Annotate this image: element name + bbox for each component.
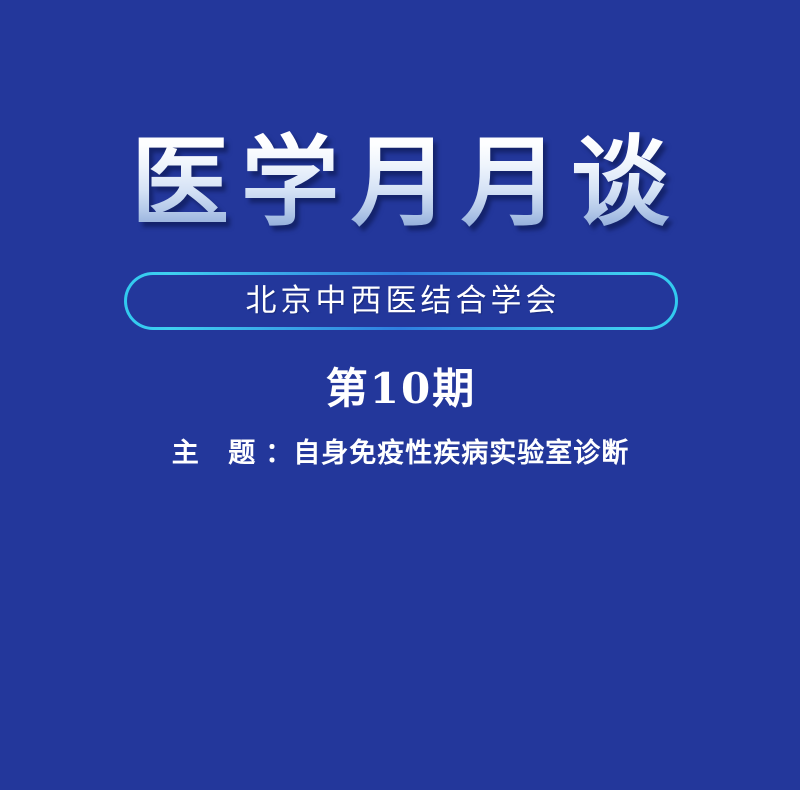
page-title: 医学月月谈 [119,130,681,236]
organization-pill: 北京中西医结合学会 [124,272,678,330]
theme-label: 主 题 [172,438,265,469]
title-container: 医学月月谈 [0,130,800,236]
organization-name: 北京中西医结合学会 [242,286,561,317]
issue-number: 第10期 [0,366,800,412]
theme-value: 自身免疫性疾病实验室诊断 [293,438,629,469]
theme-separator: ： [265,438,293,469]
poster-canvas: 医学月月谈 北京中西医结合学会 第10期 主 题：自身免疫性疾病实验室诊断 [0,0,800,790]
theme-line: 主 题：自身免疫性疾病实验室诊断 [0,438,800,469]
